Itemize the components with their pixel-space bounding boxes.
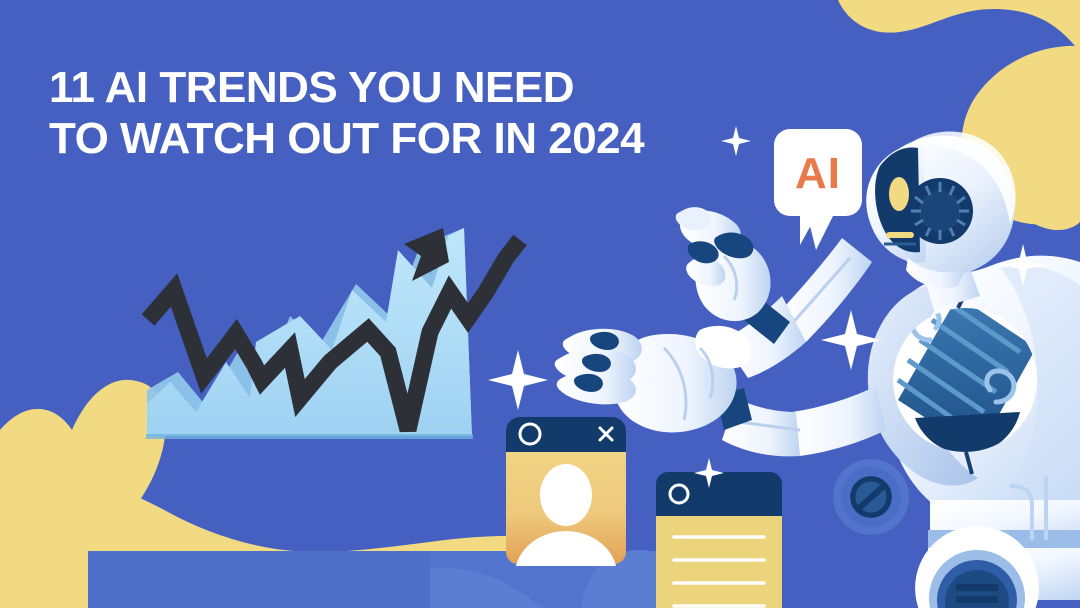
sparkle-icon-2	[821, 310, 881, 370]
sparkle-icon-5	[694, 458, 724, 488]
page-title: 11 AI Trends You Need To Watch Out For I…	[49, 62, 699, 165]
sparkle-icon-3	[1002, 244, 1044, 286]
poster-canvas: 11 AI Trends You Need To Watch Out For I…	[0, 0, 1080, 608]
sparkle-icon-1	[488, 350, 548, 410]
ai-bubble-label: AI	[773, 152, 863, 196]
sparkle-icon-4	[721, 126, 751, 156]
